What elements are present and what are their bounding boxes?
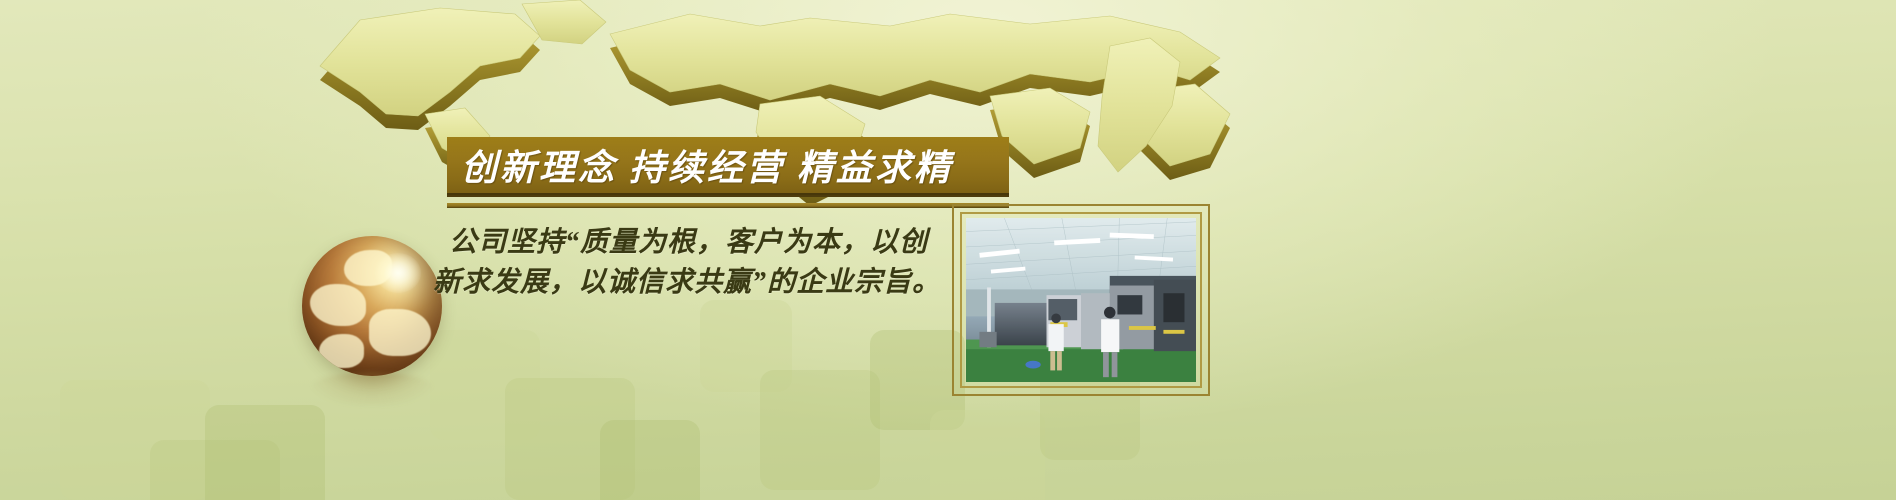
company-banner: 创新理念 持续经营 精益求精 公司坚持“质量为根，客户为本，以创 新求发展，以诚… (0, 0, 1896, 500)
decorative-square (600, 420, 700, 500)
factory-workshop-photo (966, 218, 1196, 382)
subtitle-line-2: 新求发展，以诚信求共赢”的企业宗旨。 (433, 263, 969, 303)
decorative-square (760, 370, 880, 490)
globe-highlight (375, 253, 421, 293)
decorative-square (205, 405, 325, 500)
subtitle-text: 公司坚持“质量为根，客户为本，以创 新求发展，以诚信求共赢”的企业宗旨。 (449, 223, 969, 303)
headline-bar: 创新理念 持续经营 精益求精 (447, 137, 1009, 193)
photo-frame (952, 204, 1210, 396)
headline-rule-gold (447, 203, 1009, 208)
subtitle-line-1: 公司坚持“质量为根，客户为本，以创 (449, 223, 969, 263)
photo-frame-inner (960, 212, 1202, 388)
decorative-square (930, 410, 1045, 500)
headline-block: 创新理念 持续经营 精益求精 (447, 137, 1009, 208)
headline-text: 创新理念 持续经营 精益求精 (461, 139, 953, 191)
globe-sphere (302, 236, 442, 376)
globe-graphic (302, 236, 452, 406)
globe-reflection (310, 372, 434, 406)
